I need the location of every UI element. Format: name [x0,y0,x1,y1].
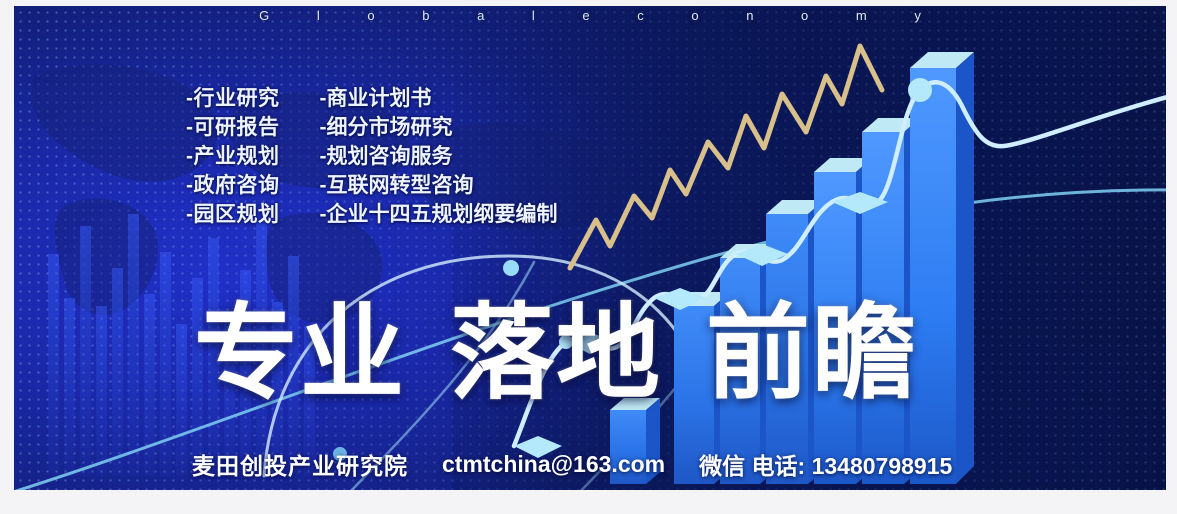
contact-phone: 微信 电话: 13480798915 [699,447,952,481]
services-column-right: -商业计划书 -细分市场研究 -规划咨询服务 -互联网转型咨询 -企业十四五规划… [320,84,558,229]
company-name: 麦田创投产业研究院 [192,447,408,481]
email-address[interactable]: ctmtchina@163.com [442,451,665,478]
footer-contact-bar: 麦田创投产业研究院 ctmtchina@163.com 微信 电话: 13480… [192,447,952,481]
service-item: -细分市场研究 [320,113,558,142]
service-item: -园区规划 [186,200,280,229]
slogan: 专业 落地 前瞻 [194,302,918,406]
banner-image: G l o b a l e c o n o m y -行业研究 -可研报告 -产… [0,0,1177,514]
services-lists: -行业研究 -可研报告 -产业规划 -政府咨询 -园区规划 -商业计划书 -细分… [186,84,558,229]
service-item: -商业计划书 [320,84,558,113]
service-item: -可研报告 [186,113,280,142]
slogan-word-2: 落地 [450,302,662,406]
service-item: -互联网转型咨询 [320,171,558,200]
service-item: -企业十四五规划纲要编制 [320,200,558,229]
services-column-left: -行业研究 -可研报告 -产业规划 -政府咨询 -园区规划 [186,84,280,229]
slogan-word-3: 前瞻 [706,302,918,406]
banner-canvas: G l o b a l e c o n o m y -行业研究 -可研报告 -产… [14,6,1166,490]
service-item: -政府咨询 [186,171,280,200]
service-item: -产业规划 [186,142,280,171]
slogan-word-1: 专业 [194,302,406,406]
gold-zigzag-line [570,46,882,268]
page-title: G l o b a l e c o n o m y [14,8,1166,34]
line-series-overlay [14,6,1166,490]
service-item: -行业研究 [186,84,280,113]
service-item: -规划咨询服务 [320,142,558,171]
